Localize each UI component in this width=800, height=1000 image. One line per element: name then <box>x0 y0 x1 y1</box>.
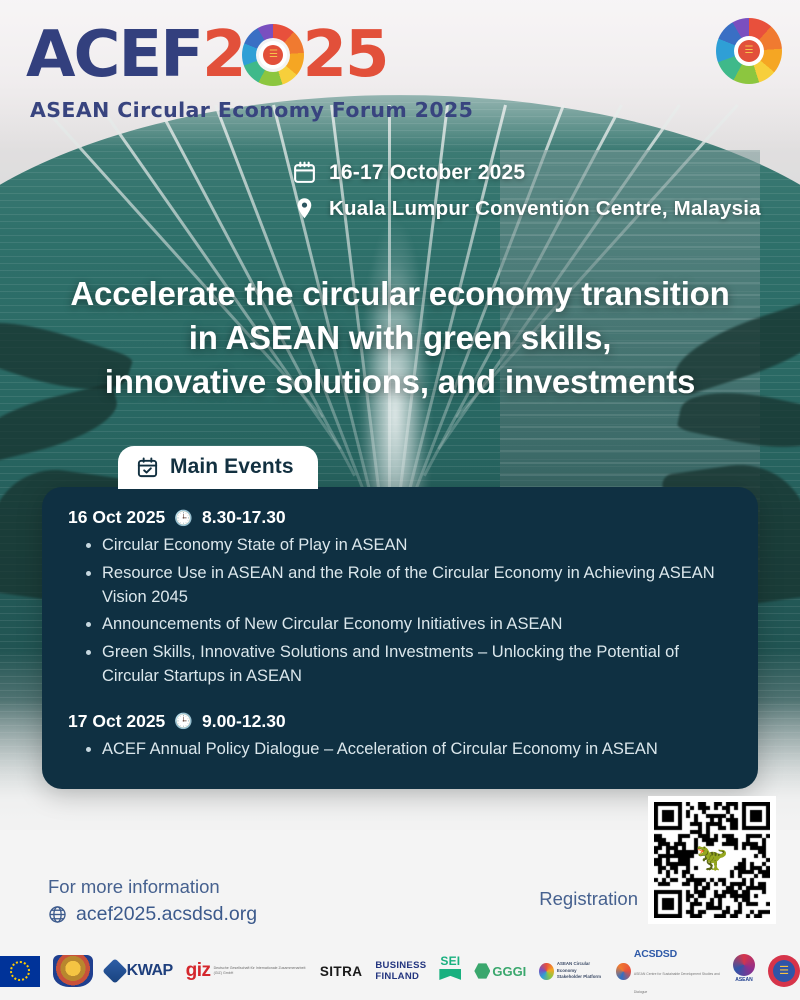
sponsor-logo-acsdsd: ACSDSD ASEAN Centre for Sustainable Deve… <box>616 954 720 988</box>
sponsor-label-line-1: BUSINESS <box>375 960 426 971</box>
sponsor-label: KWAP <box>127 962 173 980</box>
more-information-label: For more information <box>48 876 257 898</box>
eu-stars-icon <box>10 961 30 981</box>
acsdsd-mark-icon <box>616 963 631 980</box>
sponsor-logo-gggi: GGGI <box>474 954 526 988</box>
asean-emblem-icon: ☰ <box>738 40 760 62</box>
headline-line-1: Accelerate the circular economy transiti… <box>24 272 776 316</box>
asean-emblem-icon: ☰ <box>768 955 800 987</box>
agenda-date: 17 Oct 2025 <box>68 711 165 732</box>
headline-line-2: in ASEAN with green skills, <box>24 316 776 360</box>
agenda-day-header: 16 Oct 2025 🕒 8.30-17.30 <box>68 507 732 528</box>
sponsor-logo-asean-emblem: ☰ <box>768 954 800 988</box>
sponsor-logo-giz: giz Deutsche Gesellschaft für Internatio… <box>186 954 307 988</box>
sponsor-sublabel: ASEAN Centre for Sustainable Development… <box>634 972 720 994</box>
agenda-time: 9.00-12.30 <box>202 711 286 732</box>
registration-label: Registration <box>539 888 638 924</box>
agenda-date: 16 Oct 2025 <box>68 507 165 528</box>
location-pin-icon <box>292 196 317 221</box>
sponsor-logo-asean-swirl: ASEAN <box>733 954 755 988</box>
event-date: 16-17 October 2025 <box>329 161 525 185</box>
sponsor-label: giz <box>186 960 211 982</box>
gggi-mark-icon <box>474 963 490 979</box>
logo-acef-text: ACEF <box>26 23 202 87</box>
main-events-panel: 16 Oct 2025 🕒 8.30-17.30 Circular Econom… <box>42 487 758 789</box>
sponsor-label: SITRA <box>320 964 363 979</box>
logo-digits-25: 25 <box>302 23 387 87</box>
more-information: For more information acef2025.acsdsd.org <box>48 876 257 926</box>
sei-mark-icon <box>439 969 461 980</box>
calendar-icon <box>292 160 317 185</box>
sponsor-label-line-1: ASEAN Circular Economy <box>557 961 590 972</box>
agenda-time: 8.30-17.30 <box>202 507 286 528</box>
corner-circular-economy-wheel-icon: ☰ <box>716 18 782 84</box>
sponsor-logo-asean-circular-economy-stakeholder-platform: ASEAN Circular Economy Stakeholder Platf… <box>539 954 603 988</box>
list-item: Green Skills, Innovative Solutions and I… <box>82 641 732 689</box>
sponsor-label: ACSDSD <box>634 948 677 960</box>
malaysia-crest-icon <box>53 955 93 987</box>
sponsor-label-line-2: Stakeholder Platform <box>557 974 601 979</box>
logo-digit-2: 2 <box>202 23 245 87</box>
sponsor-logo-european-union <box>0 956 40 987</box>
sponsor-logos: KWAP giz Deutsche Gesellschaft für Inter… <box>0 948 800 994</box>
calendar-check-icon <box>136 456 159 479</box>
brand-header: ACEF 2 ☰ 25 ASEAN Circular Economy Forum… <box>26 18 473 122</box>
registration-block: Registration 🦖 <box>539 796 776 924</box>
sponsor-logo-sitra: SITRA <box>320 954 363 988</box>
dinosaur-icon: 🦖 <box>696 844 728 870</box>
event-meta: 16-17 October 2025 Kuala Lumpur Conventi… <box>292 160 761 232</box>
event-date-row: 16-17 October 2025 <box>292 160 761 185</box>
event-location: Kuala Lumpur Convention Centre, Malaysia <box>329 197 761 221</box>
sponsor-logo-malaysia-coat-of-arms <box>53 954 93 988</box>
agenda-day-header: 17 Oct 2025 🕒 9.00-12.30 <box>68 711 732 732</box>
agenda-item-list: Circular Economy State of Play in ASEAN … <box>82 534 732 689</box>
clock-icon: 🕒 <box>174 509 193 527</box>
qr-code[interactable]: 🦖 <box>648 796 776 924</box>
sponsor-logo-business-finland: BUSINESS FINLAND <box>375 954 426 988</box>
sponsor-logo-kwap: KWAP <box>106 954 173 988</box>
website-url: acef2025.acsdsd.org <box>76 903 257 926</box>
globe-icon <box>48 905 67 924</box>
sponsor-label-line-2: FINLAND <box>375 971 419 982</box>
kwap-mark-icon <box>102 958 127 983</box>
sponsor-label: BUSINESS FINLAND <box>375 960 426 982</box>
sponsor-label: GGGI <box>492 964 526 979</box>
agenda-item-list: ACEF Annual Policy Dialogue – Accelerati… <box>82 738 732 762</box>
sponsor-label: SEI <box>440 954 460 968</box>
page-title: Accelerate the circular economy transiti… <box>0 272 800 405</box>
tab-main-events[interactable]: Main Events <box>118 446 318 489</box>
list-item: ACEF Annual Policy Dialogue – Accelerati… <box>82 738 732 762</box>
asean-emblem-icon: ☰ <box>263 45 283 65</box>
agenda-day: 16 Oct 2025 🕒 8.30-17.30 Circular Econom… <box>68 507 732 689</box>
event-location-row: Kuala Lumpur Convention Centre, Malaysia <box>292 196 761 221</box>
acef-logo: ACEF 2 ☰ 25 <box>26 18 473 92</box>
poster: ACEF 2 ☰ 25 ASEAN Circular Economy Forum… <box>0 0 800 1000</box>
clock-icon: 🕒 <box>174 712 193 730</box>
asean-swirl-icon <box>733 954 755 976</box>
sponsor-label: ASEAN <box>735 977 753 983</box>
sponsor-logo-sei: SEI <box>439 954 461 988</box>
website-link[interactable]: acef2025.acsdsd.org <box>48 903 257 926</box>
sponsor-label: ASEAN Circular Economy Stakeholder Platf… <box>557 961 603 980</box>
list-item: Circular Economy State of Play in ASEAN <box>82 534 732 558</box>
tab-main-events-label: Main Events <box>170 455 294 479</box>
brand-tagline: ASEAN Circular Economy Forum 2025 <box>30 98 473 122</box>
sponsor-sublabel: Deutsche Gesellschaft für Internationale… <box>214 966 307 977</box>
list-item: Announcements of New Circular Economy In… <box>82 613 732 637</box>
agenda-day: 17 Oct 2025 🕒 9.00-12.30 ACEF Annual Pol… <box>68 711 732 762</box>
headline-line-3: innovative solutions, and investments <box>24 360 776 404</box>
list-item: Resource Use in ASEAN and the Role of th… <box>82 562 732 610</box>
acesp-mark-icon <box>539 963 554 980</box>
circular-economy-wheel-icon: ☰ <box>242 24 304 86</box>
